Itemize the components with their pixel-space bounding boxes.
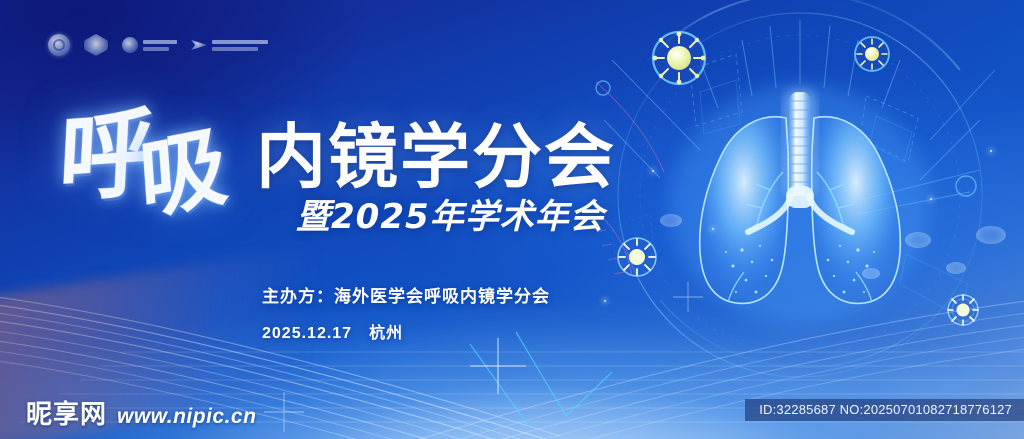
sponsor-logo-row [48,34,268,56]
page-subtitle: 暨2025年学术年会 [296,200,605,234]
emblem-logo-1-icon [48,34,70,56]
watermark-site-name: 昵享网 [26,394,107,431]
wordmark-logo-1-icon [122,37,138,53]
date-and-city: 2025.12.17 杭州 [262,319,550,343]
wordmark-logo-2-text [212,40,268,51]
wordmark-logo-1-text [143,40,177,51]
wordmark-logo-2-icon [191,37,207,53]
emblem-logo-2-icon [84,34,108,56]
image-id-label: ID:32285687 NO:20250701082718776127 [745,399,1024,421]
wordmark-logo-1 [122,37,177,53]
watermark: 昵享网 www.nipic.cn [26,394,256,431]
page-title: 内镜学分会 [256,122,616,192]
event-info: 主办方：海外医学会呼吸内镜学分会 2025.12.17 杭州 [262,284,550,343]
wordmark-logo-2 [191,37,268,53]
host-organization: 主办方：海外医学会呼吸内镜学分会 [262,284,550,310]
poster-canvas: 呼吸 内镜学分会 暨2025年学术年会 主办方：海外医学会呼吸内镜学分会 202… [0,0,1024,439]
watermark-site-url: www.nipic.cn [117,405,256,429]
